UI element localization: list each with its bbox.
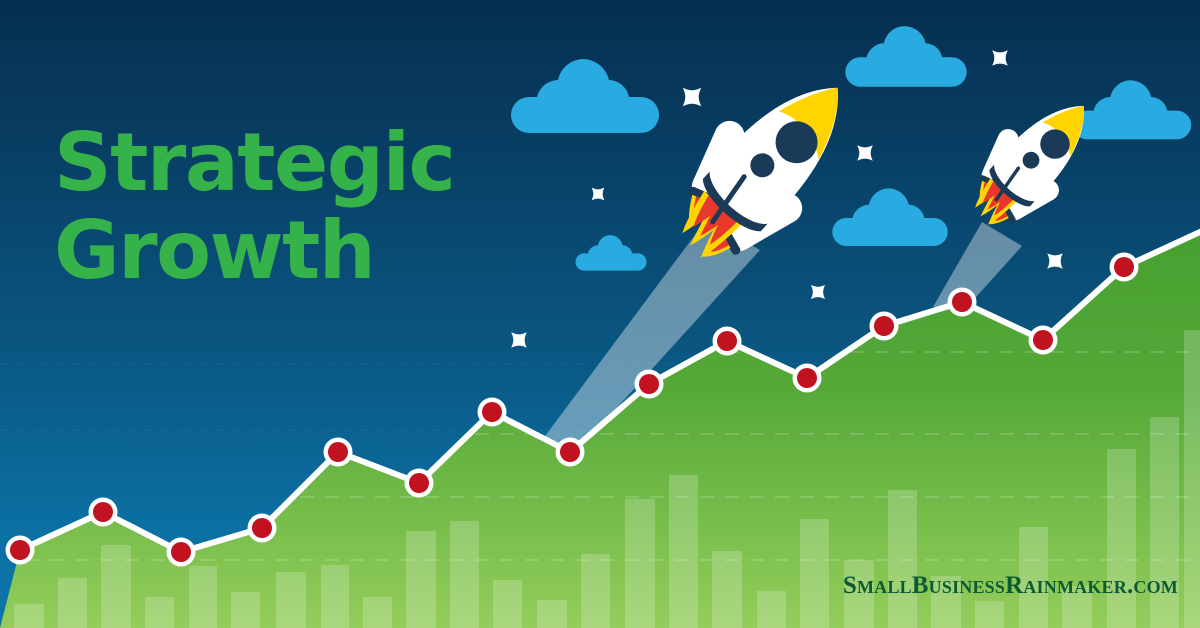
- chart-bar: [493, 580, 522, 628]
- chart-bar: [58, 578, 87, 628]
- chart-bar: [363, 597, 392, 628]
- chart-marker[interactable]: [248, 514, 277, 543]
- chart-marker[interactable]: [405, 469, 434, 498]
- chart-bar: [800, 519, 829, 628]
- chart-marker[interactable]: [793, 364, 822, 393]
- chart-bar: [537, 600, 567, 628]
- chart-marker[interactable]: [713, 327, 742, 356]
- chart-bar: [581, 554, 610, 628]
- chart-bar: [669, 475, 698, 628]
- chart-marker[interactable]: [324, 438, 353, 467]
- chart-bar: [101, 545, 131, 628]
- chart-bar: [231, 592, 260, 628]
- chart-marker[interactable]: [89, 498, 118, 527]
- chart-bar: [14, 604, 44, 628]
- chart-bar: [450, 521, 479, 628]
- growth-chart: [0, 0, 1200, 628]
- chart-marker[interactable]: [167, 538, 196, 567]
- chart-marker[interactable]: [870, 312, 899, 341]
- chart-bar: [888, 490, 917, 628]
- chart-marker[interactable]: [1110, 253, 1139, 282]
- headline: Strategic Growth: [54, 126, 454, 287]
- chart-bar: [406, 531, 436, 628]
- chart-bar: [757, 591, 786, 628]
- chart-bar: [321, 565, 349, 628]
- chart-bar: [145, 597, 174, 628]
- chart-marker[interactable]: [1029, 326, 1058, 355]
- chart-marker[interactable]: [635, 370, 664, 399]
- chart-marker[interactable]: [6, 536, 35, 565]
- chart-bar: [189, 566, 217, 628]
- chart-bar: [625, 499, 655, 628]
- chart-bar: [276, 572, 306, 628]
- headline-line-2: Growth: [54, 214, 454, 288]
- chart-marker[interactable]: [948, 288, 977, 317]
- headline-line-1: Strategic: [54, 126, 454, 200]
- strategic-growth-banner: Strategic Growth SmallBusinessRainmaker.…: [0, 0, 1200, 628]
- chart-bar: [1184, 330, 1200, 628]
- chart-bar: [712, 551, 742, 628]
- chart-marker[interactable]: [478, 398, 507, 427]
- chart-bar: [1107, 449, 1136, 628]
- chart-marker[interactable]: [556, 438, 585, 467]
- chart-bar: [975, 601, 1004, 628]
- site-logo[interactable]: SmallBusinessRainmaker.com: [843, 572, 1178, 600]
